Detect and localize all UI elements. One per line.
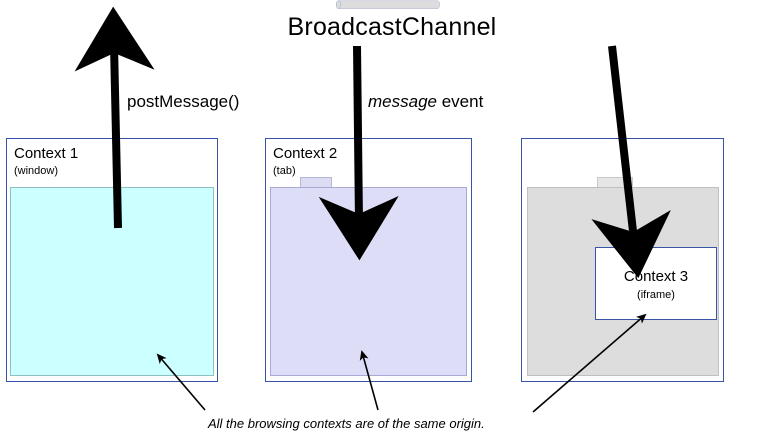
context-3-title: Context 3 [595,269,717,285]
context-2-viewport [270,187,467,376]
context-2-subtitle: (tab) [273,165,296,177]
message-event-keyword: message [368,92,437,111]
diagram-canvas: BroadcastChannel Context 1 (window) Cont… [0,0,784,448]
broadcast-channel-label: BroadcastChannel [0,13,784,42]
context-3-subtitle: (iframe) [595,289,717,301]
context-2-title: Context 2 [273,146,337,162]
context-1-viewport [10,187,214,376]
context-1-title: Context 1 [14,146,78,162]
context-1-subtitle: (window) [14,165,58,177]
message-event-arrow-label: message event [368,92,483,112]
footnote-text: All the browsing contexts are of the sam… [208,416,485,431]
postmessage-arrow-label: postMessage() [127,92,239,112]
